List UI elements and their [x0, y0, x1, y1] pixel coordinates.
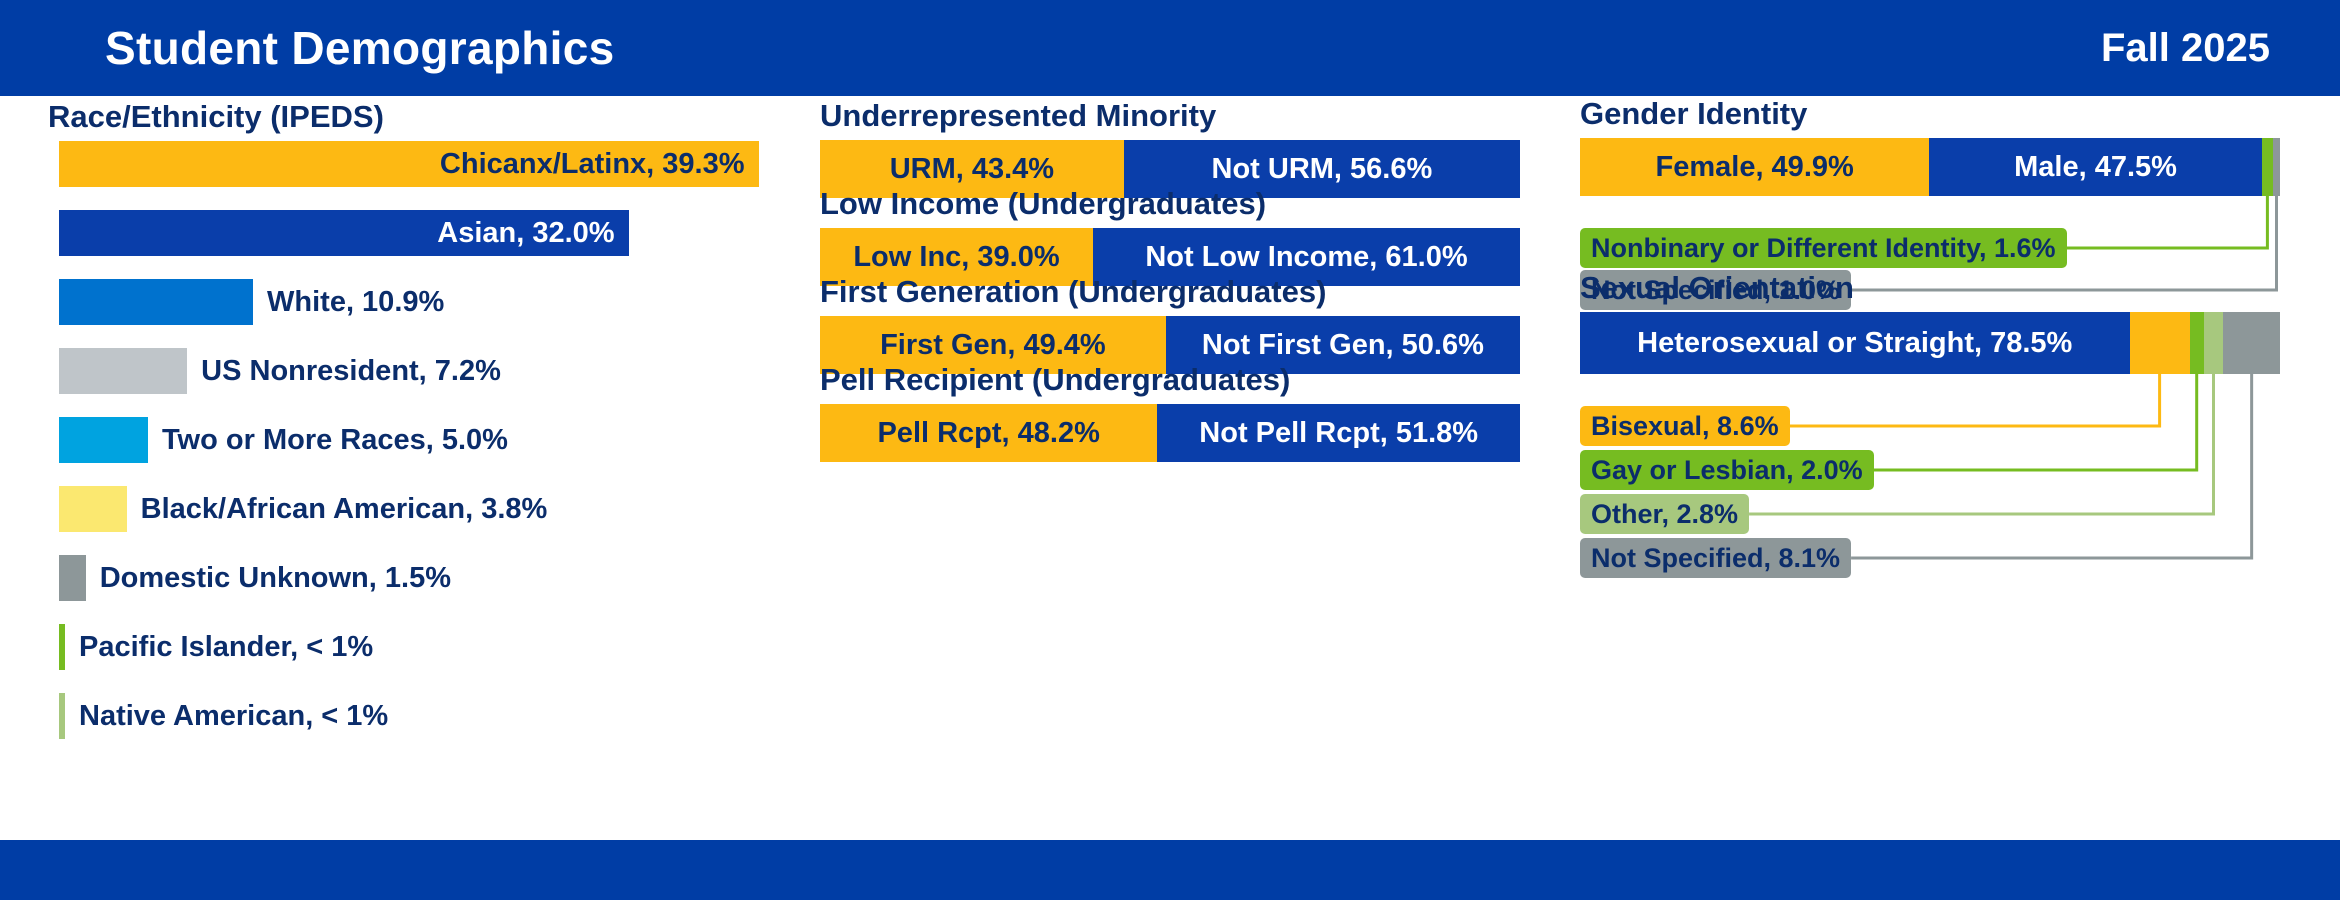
- page-header: Student Demographics Fall 2025: [0, 0, 2340, 96]
- race-bar-label: White, 10.9%: [267, 279, 444, 325]
- stacked-bar-segment: [2273, 138, 2280, 196]
- stacked-bar-segment: [2262, 138, 2273, 196]
- race-bar-row: White, 10.9%: [59, 279, 789, 348]
- low-income-section-title: Low Income (Undergraduates): [820, 188, 1266, 219]
- stacked-bar-segment: Female, 49.9%: [1580, 138, 1929, 196]
- race-bar-label: Black/African American, 3.8%: [141, 486, 548, 532]
- stacked-bar-segment: Not Pell Rcpt, 51.8%: [1157, 404, 1520, 462]
- race-section-title: Race/Ethnicity (IPEDS): [48, 101, 384, 132]
- stacked-bar-segment-label: Low Inc, 39.0%: [853, 241, 1059, 274]
- stacked-bar-segment-label: Not Pell Rcpt, 51.8%: [1199, 417, 1478, 450]
- stacked-bar-segment-label: Not First Gen, 50.6%: [1202, 329, 1484, 362]
- segment-callout: Other, 2.8%: [1580, 494, 1749, 534]
- gender-stacked-bar: Female, 49.9%Male, 47.5%: [1580, 138, 2280, 196]
- stacked-bar-segment-label: Female, 49.9%: [1656, 151, 1854, 184]
- gender-section-title: Gender Identity: [1580, 98, 1807, 129]
- race-bar: [59, 624, 65, 670]
- pell-section-title: Pell Recipient (Undergraduates): [820, 364, 1290, 395]
- stacked-bar-segment: [2130, 312, 2190, 374]
- race-bar-row: Domestic Unknown, 1.5%: [59, 555, 789, 624]
- race-bar-label: Chicanx/Latinx, 39.3%: [59, 141, 759, 187]
- race-bar: [59, 279, 253, 325]
- race-bar-label: Native American, < 1%: [79, 693, 388, 739]
- stacked-bar-segment-label: Heterosexual or Straight, 78.5%: [1637, 327, 2072, 360]
- orientation-section-title: Sexual Orientation: [1580, 272, 1854, 303]
- segment-callout: Bisexual, 8.6%: [1580, 406, 1790, 446]
- segment-callout: Not Specified, 8.1%: [1580, 538, 1851, 578]
- race-bar-label: Domestic Unknown, 1.5%: [100, 555, 451, 601]
- race-bar-label: US Nonresident, 7.2%: [201, 348, 501, 394]
- callout-leader-line: [1851, 374, 2252, 558]
- race-bar-list: Chicanx/Latinx, 39.3%Asian, 32.0%White, …: [59, 141, 789, 762]
- stacked-bar-segment-label: Male, 47.5%: [2014, 151, 2177, 184]
- race-bar-row: US Nonresident, 7.2%: [59, 348, 789, 417]
- race-bar-row: Black/African American, 3.8%: [59, 486, 789, 555]
- pell-stacked-bar: Pell Rcpt, 48.2%Not Pell Rcpt, 51.8%: [820, 404, 1520, 462]
- stacked-bar-segment: [2223, 312, 2280, 374]
- callout-leader-line: [1749, 374, 2213, 514]
- callout-leader-line: [1790, 374, 2160, 426]
- race-bar-label: Pacific Islander, < 1%: [79, 624, 373, 670]
- stacked-bar-segment-label: Not URM, 56.6%: [1212, 153, 1433, 186]
- race-bar: [59, 348, 187, 394]
- race-bar-row: Two or More Races, 5.0%: [59, 417, 789, 486]
- race-bar-row: Asian, 32.0%: [59, 210, 789, 279]
- stacked-bar-segment: Male, 47.5%: [1929, 138, 2262, 196]
- stacked-bar-segment: [2204, 312, 2224, 374]
- stacked-bar-segment: [2190, 312, 2204, 374]
- segment-callout: Gay or Lesbian, 2.0%: [1580, 450, 1874, 490]
- race-bar: [59, 555, 86, 601]
- race-bar-label: Asian, 32.0%: [59, 210, 629, 256]
- stacked-bar-segment-label: First Gen, 49.4%: [880, 329, 1106, 362]
- page-title: Student Demographics: [105, 25, 615, 71]
- callout-leader-line: [1874, 374, 2197, 470]
- race-bar-row: Pacific Islander, < 1%: [59, 624, 789, 693]
- stacked-bar-segment: Heterosexual or Straight, 78.5%: [1580, 312, 2130, 374]
- urm-section-title: Underrepresented Minority: [820, 100, 1216, 131]
- race-bar: [59, 693, 65, 739]
- stacked-bar-segment-label: URM, 43.4%: [890, 153, 1054, 186]
- stacked-bar-segment-label: Not Low Income, 61.0%: [1145, 241, 1467, 274]
- race-bar: [59, 417, 148, 463]
- term-label: Fall 2025: [2101, 28, 2270, 68]
- race-bar-row: Chicanx/Latinx, 39.3%: [59, 141, 789, 210]
- stacked-bar-segment-label: Pell Rcpt, 48.2%: [877, 417, 1099, 450]
- race-bar-row: Native American, < 1%: [59, 693, 789, 762]
- first-gen-section-title: First Generation (Undergraduates): [820, 276, 1326, 307]
- orientation-stacked-bar: Heterosexual or Straight, 78.5%: [1580, 312, 2280, 374]
- page-footer: [0, 840, 2340, 900]
- stacked-bar-segment: Pell Rcpt, 48.2%: [820, 404, 1157, 462]
- callout-leader-line: [2067, 196, 2268, 248]
- race-bar: [59, 486, 127, 532]
- race-bar-label: Two or More Races, 5.0%: [162, 417, 508, 463]
- segment-callout: Nonbinary or Different Identity, 1.6%: [1580, 228, 2067, 268]
